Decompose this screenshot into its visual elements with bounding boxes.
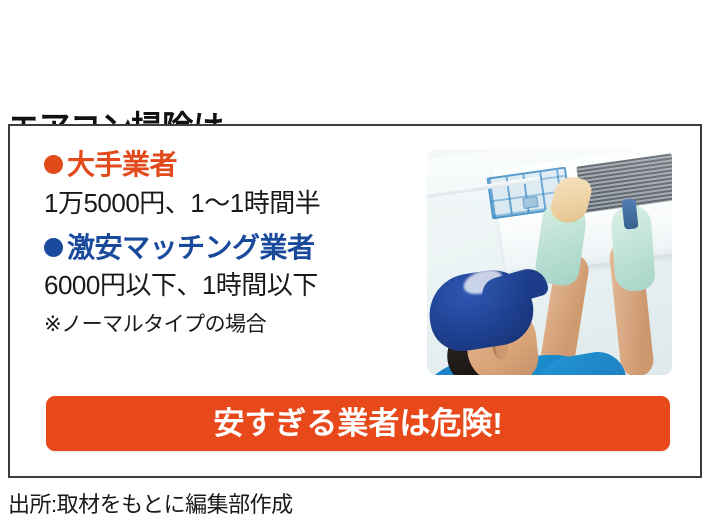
offer-list: 大手業者 1万5000円、1〜1時間半 激安マッチング業者 6000円以下、1時…	[44, 148, 404, 349]
bullet-circle-icon	[44, 238, 63, 257]
offer-cheap-note: ※ノーマルタイプの場合	[44, 311, 404, 338]
offer-item-cheap: 激安マッチング業者 6000円以下、1時間以下 ※ノーマルタイプの場合	[44, 231, 404, 339]
offer-cheap-heading: 激安マッチング業者	[44, 231, 404, 265]
source-note: 出所:取材をもとに編集部作成	[8, 487, 293, 519]
offer-cheap-detail: 6000円以下、1時間以下	[44, 268, 404, 303]
photo-ac-filter-tab	[522, 196, 538, 209]
photo-cleaning-tool	[621, 198, 638, 229]
info-panel: 大手業者 1万5000円、1〜1時間半 激安マッチング業者 6000円以下、1時…	[8, 124, 702, 478]
offer-major-title: 大手業者	[67, 148, 177, 182]
warning-banner-text: 安すぎる業者は危険!	[213, 408, 502, 439]
offer-item-major: 大手業者 1万5000円、1〜1時間半	[44, 148, 404, 221]
warning-banner: 安すぎる業者は危険!	[46, 396, 670, 451]
worker-photo	[427, 149, 672, 375]
offer-cheap-title: 激安マッチング業者	[67, 231, 315, 265]
offer-major-heading: 大手業者	[44, 148, 404, 182]
offer-major-detail: 1万5000円、1〜1時間半	[44, 186, 404, 221]
bullet-circle-icon	[44, 155, 63, 174]
